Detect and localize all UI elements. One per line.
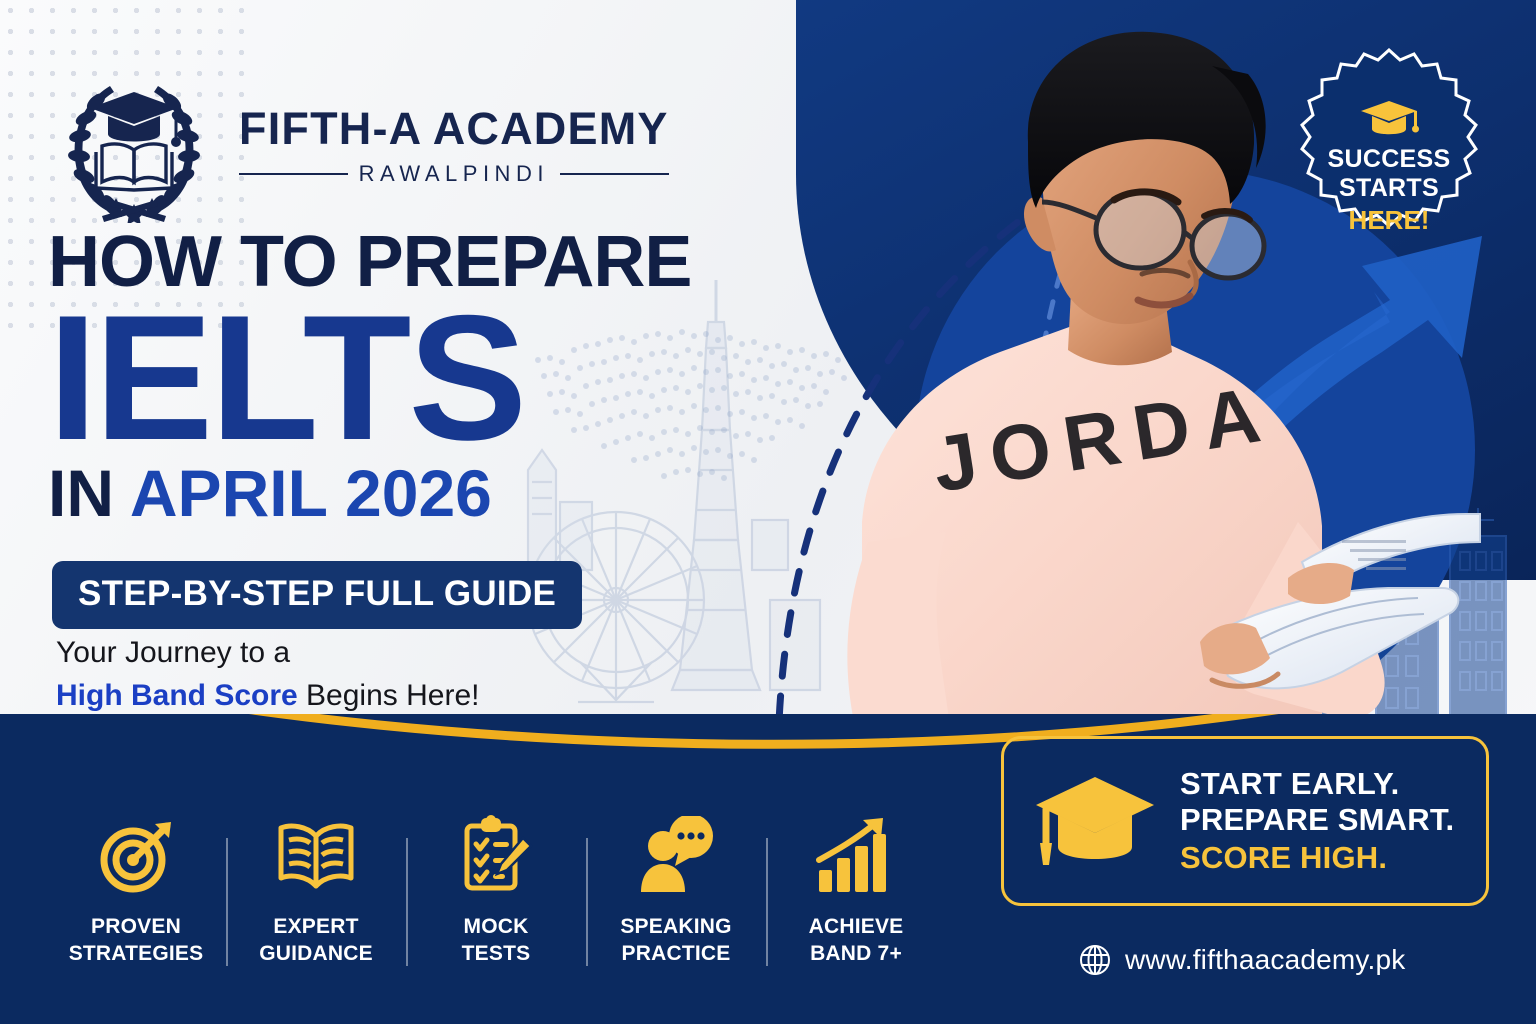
headline-line-3: IN APRIL 2026 <box>48 460 708 526</box>
graduation-cap-icon <box>1030 769 1160 873</box>
feature-list: PROVEN STRATEGIES EXP <box>46 816 946 968</box>
badge-line-3: HERE! <box>1349 205 1430 236</box>
bar-chart-arrow-up-icon <box>815 816 897 894</box>
feature-label-line-1: MOCK <box>464 915 529 938</box>
cta-text-lines: START EARLY. PREPARE SMART. SCORE HIGH. <box>1180 766 1460 876</box>
cta-line-2: PREPARE SMART. <box>1180 802 1460 839</box>
cta-box[interactable]: START EARLY. PREPARE SMART. SCORE HIGH. <box>1001 736 1489 906</box>
tagline-rest: Begins Here! <box>298 679 480 712</box>
graduation-cap-icon <box>1359 99 1419 139</box>
website-url: www.fifthaacademy.pk <box>1125 944 1406 976</box>
tagline-block: Your Journey to a High Band Score Begins… <box>56 632 479 717</box>
badge-line-1: SUCCESS <box>1328 145 1451 173</box>
headline-line-3-highlight: APRIL 2026 <box>130 456 492 530</box>
laurel-wreath-graduation-cap-book-icon <box>52 58 217 223</box>
feature-label-line-2: BAND 7+ <box>810 942 902 965</box>
globe-icon <box>1079 944 1111 976</box>
badge-line-2: STARTS <box>1339 174 1439 202</box>
feature-label-line-2: TESTS <box>462 942 531 965</box>
brand-location: RAWALPINDI <box>359 161 549 187</box>
feature-label-line-2: GUIDANCE <box>259 942 373 965</box>
headline-line-3-prefix: IN <box>48 456 114 530</box>
feature-label-line-2: STRATEGIES <box>69 942 204 965</box>
cta-line-1: START EARLY. <box>1180 766 1460 803</box>
feature-label: EXPERT GUIDANCE <box>259 914 373 968</box>
feature-item-expert-guidance[interactable]: EXPERT GUIDANCE <box>226 816 406 968</box>
feature-label: SPEAKING PRACTICE <box>620 914 731 968</box>
headline-block: HOW TO PREPARE IELTS IN APRIL 2026 <box>48 228 708 526</box>
open-book-icon <box>273 816 359 894</box>
tagline-line-1: Your Journey to a <box>56 632 479 675</box>
feature-label-line-1: EXPERT <box>273 915 358 938</box>
brand-rule-left <box>239 173 348 175</box>
cta-line-3: SCORE HIGH. <box>1180 839 1460 876</box>
feature-label: ACHIEVE BAND 7+ <box>809 914 904 968</box>
brand-logo: FIFTH-A ACADEMY RAWALPINDI <box>52 58 669 223</box>
website-row[interactable]: www.fifthaacademy.pk <box>1079 944 1406 976</box>
feature-label: MOCK TESTS <box>462 914 531 968</box>
feature-label-line-1: SPEAKING <box>620 915 731 938</box>
feature-item-proven-strategies[interactable]: PROVEN STRATEGIES <box>46 816 226 968</box>
tagline-highlight: High Band Score <box>56 679 298 712</box>
feature-label-line-2: PRACTICE <box>622 942 731 965</box>
feature-item-achieve-band[interactable]: ACHIEVE BAND 7+ <box>766 816 946 968</box>
headline-subject: IELTS <box>48 301 708 454</box>
guide-badge: STEP-BY-STEP FULL GUIDE <box>52 561 582 629</box>
brand-rule-right <box>560 173 669 175</box>
brand-name: FIFTH-A ACADEMY <box>239 106 669 151</box>
promotional-banner: JORDA <box>0 0 1536 1024</box>
person-speech-bubble-icon <box>635 816 717 894</box>
feature-label: PROVEN STRATEGIES <box>69 914 204 968</box>
feature-label-line-1: PROVEN <box>91 915 181 938</box>
bottom-feature-band: PROVEN STRATEGIES EXP <box>0 714 1536 1024</box>
clipboard-pencil-icon <box>457 816 535 894</box>
feature-item-mock-tests[interactable]: MOCK TESTS <box>406 816 586 968</box>
feature-label-line-1: ACHIEVE <box>809 915 904 938</box>
target-dartboard-icon <box>97 816 175 894</box>
feature-item-speaking-practice[interactable]: SPEAKING PRACTICE <box>586 816 766 968</box>
tagline-line-2: High Band Score Begins Here! <box>56 675 479 718</box>
success-starts-here-badge: SUCCESS STARTS HERE! <box>1282 48 1496 262</box>
brand-location-row: RAWALPINDI <box>239 161 669 187</box>
